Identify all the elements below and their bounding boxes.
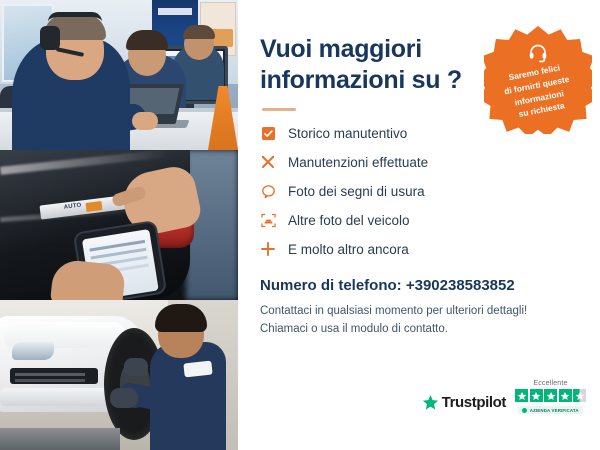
headline-line-1: Vuoi maggiori xyxy=(260,35,422,63)
contact-note-line-1: Contattaci in qualsiasi momento per ulte… xyxy=(260,305,527,317)
phone-number[interactable]: +390238583852 xyxy=(406,277,515,294)
decor-headlight xyxy=(12,342,54,360)
decor-glove-upper xyxy=(124,358,148,376)
decor-front-bumper xyxy=(0,388,118,406)
list-item-label: Manutenzioni effettuate xyxy=(288,155,428,170)
list-item-label: Altre foto del veicolo xyxy=(288,213,410,228)
list-item: Manutenzioni effettuate xyxy=(260,154,578,170)
decor-glove-lower xyxy=(110,388,138,408)
decor-headset-band xyxy=(48,12,102,22)
decor-front-grille xyxy=(10,368,98,384)
phone-label: Numero di telefono: xyxy=(260,277,402,294)
callout-badge: Saremo felici di fornirti queste informa… xyxy=(484,26,592,134)
trustpilot-rating-label: Eccellente xyxy=(533,380,567,387)
trustpilot-logo[interactable]: Trustpilot xyxy=(422,394,506,414)
title-divider xyxy=(262,108,296,111)
star-filled xyxy=(530,389,543,402)
list-item-label: Foto dei segni di usura xyxy=(288,184,425,199)
checkbox-checked-icon xyxy=(260,125,276,141)
crossed-tools-icon xyxy=(260,154,276,170)
phone-number-line: Numero di telefono: +390238583852 xyxy=(260,277,578,294)
photo-strip xyxy=(0,0,238,450)
star-filled xyxy=(559,389,572,402)
decor-agent-two-hair xyxy=(126,30,168,50)
contact-note-line-2: Chiamaci o usa il modulo di contatto. xyxy=(260,323,448,335)
feature-list: Storico manutentivo Manutenzioni effettu… xyxy=(260,125,578,257)
star-filled xyxy=(544,389,557,402)
car-scan-frame-icon xyxy=(260,212,276,228)
list-item: Altre foto del veicolo xyxy=(260,212,578,228)
trustpilot-name: Trustpilot xyxy=(442,394,506,411)
speech-bubble-icon xyxy=(260,183,276,199)
photo-vehicle-paint-thickness-inspection xyxy=(0,150,238,300)
list-item-label: Storico manutentivo xyxy=(288,126,407,141)
headline-line-2: informazioni su ? xyxy=(260,66,462,94)
contact-note: Contattaci in qualsiasi momento per ulte… xyxy=(260,302,578,339)
decor-uniform-logo xyxy=(183,361,212,378)
list-item: E molto altro ancora xyxy=(260,241,578,257)
list-item: Foto dei segni di usura xyxy=(260,183,578,199)
promo-banner: Vuoi maggiori informazioni su ? Storico … xyxy=(0,0,600,450)
list-item-label: E molto altro ancora xyxy=(288,242,409,257)
trustpilot-score-block: Eccellente AZIENDA VERIFICATA xyxy=(515,380,586,414)
decor-agent-one-hand xyxy=(132,112,158,130)
star-half xyxy=(573,389,586,402)
verified-business-label: AZIENDA VERIFICATA xyxy=(530,408,579,413)
trustpilot-rating[interactable]: Trustpilot Eccellente AZIENDA VERIFICATA xyxy=(422,380,586,414)
star-filled xyxy=(515,389,528,402)
trustpilot-stars xyxy=(515,389,586,402)
decor-gauge-label xyxy=(86,201,103,212)
decor-lift-platform xyxy=(0,428,120,450)
decor-agent-three-hair xyxy=(183,25,215,39)
plus-icon xyxy=(260,241,276,257)
trustpilot-star-icon xyxy=(422,394,439,411)
verified-business-badge: AZIENDA VERIFICATA xyxy=(518,406,582,414)
photo-call-center-agents-with-headsets xyxy=(0,0,238,150)
content-panel: Vuoi maggiori informazioni su ? Storico … xyxy=(238,0,600,450)
verified-check-icon xyxy=(522,408,527,413)
decor-mechanic-hair xyxy=(155,304,207,332)
photo-mechanic-inspecting-car-on-lift xyxy=(0,300,238,450)
